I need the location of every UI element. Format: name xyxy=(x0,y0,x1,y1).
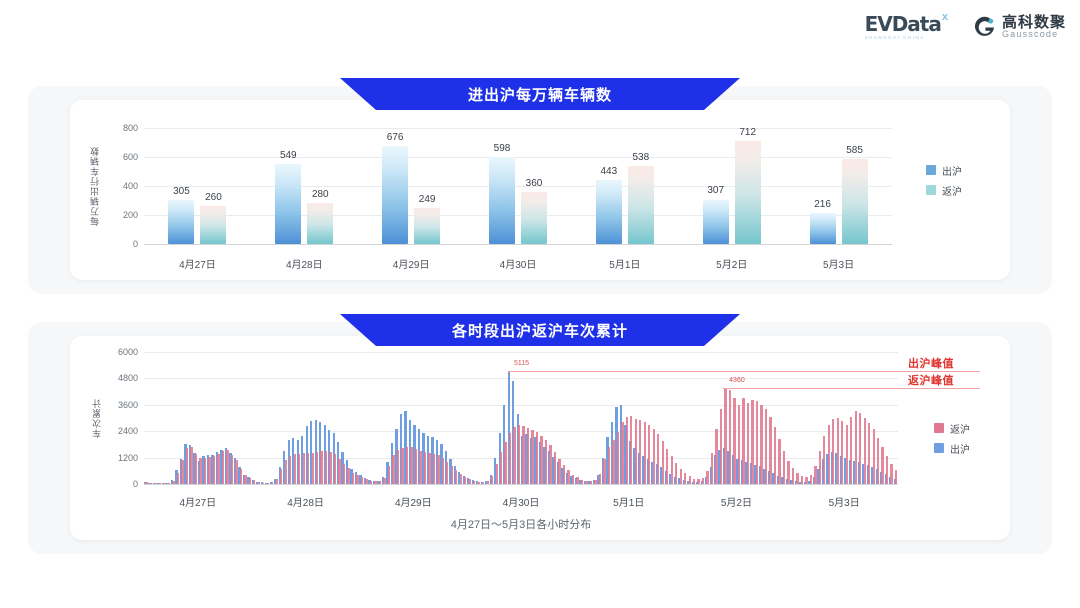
hourly-bar-return xyxy=(338,459,340,484)
hourly-bar-return xyxy=(509,433,511,484)
hourly-bar-return xyxy=(482,482,484,484)
legend-label: 返沪 xyxy=(942,183,962,198)
hourly-bar-return xyxy=(262,483,264,484)
hourly-bar-return xyxy=(581,480,583,484)
hourly-bar-return xyxy=(204,458,206,484)
hourly-bar-return xyxy=(504,442,506,484)
x-axis-tick-label: 4月28日 xyxy=(286,256,323,271)
peak-label-return: 返沪峰值 xyxy=(908,372,954,388)
bar-return-hu xyxy=(307,203,333,244)
hourly-bar-return xyxy=(276,479,278,484)
hourly-bar-return xyxy=(720,409,722,484)
hourly-bar-return xyxy=(446,462,448,484)
bar-value-label: 549 xyxy=(280,150,297,161)
bar-value-label: 538 xyxy=(633,152,650,163)
hourly-bar-return xyxy=(531,430,533,484)
hourly-bar-return xyxy=(778,439,780,484)
hourly-bar-return xyxy=(680,469,682,484)
x-axis-tick-label: 4月28日 xyxy=(287,494,324,509)
hourly-bar-return xyxy=(769,417,771,484)
hourly-bar-return xyxy=(253,480,255,484)
y-gridline xyxy=(144,352,898,353)
hourly-bar-return xyxy=(675,463,677,484)
hourly-bar-return xyxy=(765,409,767,484)
hourly-bar-return xyxy=(805,477,807,484)
hourly-bar-return xyxy=(352,473,354,484)
bar-value-label: 676 xyxy=(387,132,404,143)
hourly-bar-return xyxy=(536,432,538,484)
hourly-bar-return xyxy=(617,432,619,484)
y-gridline xyxy=(144,128,892,129)
hourly-bar-return xyxy=(549,445,551,484)
hourly-bar-return xyxy=(540,436,542,484)
hourly-bar-return xyxy=(594,480,596,484)
hourly-bar-return xyxy=(231,455,233,484)
hourly-bar-return xyxy=(671,456,673,484)
hourly-bar-return xyxy=(684,473,686,484)
hourly-bar-return xyxy=(469,479,471,484)
hourly-bar-return xyxy=(249,478,251,484)
y-axis-tick-label: 1200 xyxy=(104,453,138,463)
y-axis-tick-label: 600 xyxy=(110,152,138,162)
legend-swatch xyxy=(926,185,936,195)
hourly-bar-return xyxy=(756,401,758,484)
bar-return-hu xyxy=(414,208,440,244)
bar-out-hu xyxy=(168,200,194,244)
x-axis-tick-label: 4月29日 xyxy=(393,256,430,271)
hourly-bar-return xyxy=(890,464,892,484)
gausscode-name-cn: 高科数聚 xyxy=(1002,15,1066,31)
hourly-bar-return xyxy=(563,465,565,484)
gausscode-mark-icon xyxy=(973,16,996,39)
hourly-bar-return xyxy=(626,417,628,484)
y-axis-tick-label: 2400 xyxy=(104,426,138,436)
hourly-bar-return xyxy=(648,425,650,484)
hourly-bar-return xyxy=(545,440,547,484)
hourly-bar-return xyxy=(666,449,668,484)
bar-return-hu xyxy=(521,192,547,244)
y-axis-title: 车次累计 xyxy=(90,348,103,488)
hourly-bar-return xyxy=(747,403,749,484)
hourly-bar-return xyxy=(487,481,489,484)
hourly-bar-return xyxy=(442,458,444,484)
hourly-bar-return xyxy=(603,459,605,484)
bar-return-hu xyxy=(200,206,226,244)
hourly-bar-return xyxy=(657,434,659,484)
hourly-bar-return xyxy=(428,453,430,484)
hourly-bar-return xyxy=(195,454,197,484)
hourly-bar-return xyxy=(877,438,879,484)
x-axis-tick-label: 5月2日 xyxy=(721,494,752,509)
hourly-bar-return xyxy=(576,477,578,484)
bar-value-label: 249 xyxy=(419,194,436,205)
evdata-logo-superscript-icon: x xyxy=(942,12,948,23)
bar-return-hu xyxy=(842,159,868,244)
y-axis-tick-label: 6000 xyxy=(104,347,138,357)
hourly-bar-return xyxy=(316,452,318,484)
hourly-bar-return xyxy=(294,454,296,484)
hourly-bar-return xyxy=(496,464,498,484)
hourly-bar-return xyxy=(280,469,282,484)
hourly-bar-return xyxy=(729,390,731,484)
bar-value-label: 585 xyxy=(846,145,863,156)
bar-value-label: 598 xyxy=(494,143,511,154)
evdata-logo-text: EVData xyxy=(865,14,941,34)
bar-value-label: 443 xyxy=(601,166,618,177)
y-gridline xyxy=(144,378,898,379)
hourly-bar-return xyxy=(478,482,480,484)
bar-return-hu xyxy=(735,141,761,244)
hourly-bar-return xyxy=(163,483,165,484)
hourly-bar-return xyxy=(222,451,224,484)
hourly-bar-return xyxy=(464,477,466,484)
x-axis-tick-label: 4月30日 xyxy=(500,256,537,271)
hourly-bar-return xyxy=(868,423,870,484)
x-axis-tick-label: 5月3日 xyxy=(829,494,860,509)
legend-item[interactable]: 返沪 xyxy=(934,421,970,436)
hourly-bar-return xyxy=(572,475,574,484)
hourly-bar-return xyxy=(410,447,412,484)
bottom-chart-panel: 车次累计0120024003600480060004月27日4月28日4月29日… xyxy=(70,336,1010,540)
hourly-bar-return xyxy=(312,453,314,484)
legend-label: 出沪 xyxy=(950,441,970,456)
bar-out-hu xyxy=(596,180,622,244)
bar-return-hu xyxy=(628,166,654,244)
hourly-bar-return xyxy=(374,481,376,484)
hourly-bar-return xyxy=(473,481,475,484)
hourly-bar-return xyxy=(783,451,785,484)
hourly-bar-return xyxy=(419,451,421,484)
y-gridline xyxy=(144,244,892,245)
hourly-bar-return xyxy=(325,451,327,484)
y-gridline xyxy=(144,157,892,158)
hourly-bar-return xyxy=(154,483,156,484)
legend-label: 返沪 xyxy=(950,421,970,436)
hourly-bar-return xyxy=(855,411,857,484)
hourly-bar-return xyxy=(168,483,170,484)
hourly-bar-return xyxy=(612,440,614,484)
hourly-bar-return xyxy=(846,425,848,484)
evdata-logo-tagline: SHANGHAI CHINA xyxy=(865,36,925,40)
hourly-bar-return xyxy=(491,476,493,484)
hourly-bar-return xyxy=(244,475,246,484)
bar-value-label: 712 xyxy=(739,127,756,138)
legend-swatch xyxy=(934,423,944,433)
hourly-bar-return xyxy=(733,398,735,484)
hourly-bar-return xyxy=(599,474,601,484)
hourly-bar-return xyxy=(406,447,408,484)
bar-out-hu xyxy=(810,213,836,244)
hourly-bar-return xyxy=(329,452,331,484)
legend-item[interactable]: 返沪 xyxy=(926,183,962,198)
hourly-bar-return xyxy=(850,417,852,484)
hourly-bar-return xyxy=(639,420,641,484)
hourly-bar-return xyxy=(415,449,417,484)
top-chart-panel: 每万辆出行车辆数02004006008003052604月27日5492804月… xyxy=(70,100,1010,280)
legend-swatch xyxy=(934,443,944,453)
hourly-bar-return xyxy=(433,454,435,484)
hourly-bar-return xyxy=(145,482,147,484)
hourly-bar-return xyxy=(343,464,345,484)
x-axis-tick-label: 5月1日 xyxy=(613,494,644,509)
hourly-bar-return xyxy=(527,428,529,484)
hourly-bar-return xyxy=(567,470,569,484)
hourly-bar-return xyxy=(258,482,260,484)
hourly-bar-return xyxy=(513,427,515,484)
bar-value-label: 360 xyxy=(526,178,543,189)
y-gridline xyxy=(144,186,892,187)
bar-value-label: 307 xyxy=(707,185,724,196)
hourly-bar-return xyxy=(370,481,372,484)
hourly-bar-return xyxy=(226,450,228,484)
hourly-bar-return xyxy=(356,475,358,484)
bottom-chart-card: 车次累计0120024003600480060004月27日4月28日4月29日… xyxy=(28,322,1052,554)
hourly-bar-return xyxy=(307,453,309,484)
hourly-bar-return xyxy=(742,398,744,484)
hourly-bar-return xyxy=(361,477,363,484)
legend-swatch xyxy=(926,165,936,175)
hourly-bar-return xyxy=(289,456,291,484)
hourly-bar-return xyxy=(401,448,403,484)
logo-divider xyxy=(960,14,961,40)
bar-out-hu xyxy=(275,164,301,244)
gausscode-logo: 高科数聚 Gausscode xyxy=(973,15,1066,40)
hourly-bar-return xyxy=(644,422,646,484)
y-gridline xyxy=(144,431,898,432)
top-chart-card: 每万辆出行车辆数02004006008003052604月27日5492804月… xyxy=(28,86,1052,294)
hourly-bar-return xyxy=(774,427,776,484)
hourly-bar-return xyxy=(181,460,183,484)
page-header: EVData x SHANGHAI CHINA 高科数聚 Gausscode xyxy=(0,0,1080,62)
hourly-bar-return xyxy=(841,421,843,484)
hourly-bar-return xyxy=(864,418,866,484)
top-chart-title: 进出沪每万辆车辆数 xyxy=(468,84,612,105)
bottom-chart-title-banner: 各时段出沪返沪车次累计 xyxy=(340,314,740,346)
hourly-bar-return xyxy=(895,470,897,484)
hourly-bar-return xyxy=(590,481,592,484)
hourly-bar-return xyxy=(823,436,825,484)
hourly-bar-return xyxy=(267,483,269,484)
hourly-bar-return xyxy=(388,466,390,484)
hourly-bar-return xyxy=(320,451,322,484)
hourly-bar-return xyxy=(558,459,560,484)
hourly-bar-return xyxy=(347,468,349,484)
hourly-bar-return xyxy=(881,447,883,484)
peak-value-return: 4360 xyxy=(729,377,745,384)
hourly-bar-return xyxy=(608,447,610,484)
hourly-bar-return xyxy=(814,466,816,484)
logo-group: EVData x SHANGHAI CHINA 高科数聚 Gausscode xyxy=(865,14,1066,40)
top-chart-title-banner: 进出沪每万辆车辆数 xyxy=(340,78,740,110)
bar-value-label: 260 xyxy=(205,192,222,203)
hourly-bar-return xyxy=(819,451,821,484)
hourly-bar-return xyxy=(298,454,300,484)
bottom-chart-legend: 返沪出沪 xyxy=(934,421,970,456)
hourly-bar-return xyxy=(554,452,556,484)
hourly-bar-return xyxy=(635,419,637,484)
hourly-bar-return xyxy=(392,455,394,484)
hourly-bar-return xyxy=(437,455,439,484)
hourly-bar-return xyxy=(859,413,861,484)
hourly-bar-return xyxy=(217,454,219,484)
bar-out-hu xyxy=(703,200,729,245)
hourly-bar-return xyxy=(208,457,210,484)
hourly-bar-return xyxy=(460,474,462,484)
y-axis-tick-label: 200 xyxy=(110,210,138,220)
hourly-bar-return xyxy=(199,458,201,484)
daily-vehicles-chart: 每万辆出行车辆数02004006008003052604月27日5492804月… xyxy=(70,100,1010,280)
hourly-bar-return xyxy=(630,416,632,484)
hourly-bar-return xyxy=(522,426,524,484)
hourly-bar-return xyxy=(177,473,179,484)
y-axis-tick-label: 4800 xyxy=(104,373,138,383)
hourly-bar-return xyxy=(886,456,888,484)
hourly-bar-return xyxy=(697,479,699,484)
bottom-chart-title: 各时段出沪返沪车次累计 xyxy=(452,320,628,341)
hourly-bar-return xyxy=(455,470,457,484)
y-axis-tick-label: 0 xyxy=(110,239,138,249)
hourly-bar-return xyxy=(738,405,740,484)
peak-value-hu: 5115 xyxy=(514,360,529,367)
hourly-bar-return xyxy=(186,448,188,484)
hourly-bar-return xyxy=(810,475,812,484)
x-axis-caption: 4月27日～5月3日各小时分布 xyxy=(451,516,592,532)
y-gridline xyxy=(144,484,898,485)
top-chart-legend: 出沪返沪 xyxy=(926,163,962,198)
hourly-bar-return xyxy=(213,456,215,484)
hourly-bar-return xyxy=(792,468,794,484)
bar-out-hu xyxy=(489,157,515,244)
x-axis-tick-label: 5月2日 xyxy=(716,256,747,271)
gausscode-logo-text: 高科数聚 Gausscode xyxy=(1002,15,1066,40)
x-axis-tick-label: 5月3日 xyxy=(823,256,854,271)
x-axis-tick-label: 5月1日 xyxy=(609,256,640,271)
hourly-bar-return xyxy=(751,400,753,484)
y-gridline xyxy=(144,215,892,216)
x-axis-tick-label: 4月30日 xyxy=(503,494,540,509)
hourly-bar-return xyxy=(711,453,713,484)
bar-value-label: 305 xyxy=(173,186,190,197)
hourly-bar-return xyxy=(334,454,336,484)
y-axis-tick-label: 400 xyxy=(110,181,138,191)
hourly-bar-return xyxy=(837,418,839,484)
hourly-bar-return xyxy=(715,429,717,484)
hourly-bar-return xyxy=(702,478,704,484)
hourly-bar-return xyxy=(365,479,367,484)
hourly-bar-return xyxy=(706,471,708,484)
hourly-bar-return xyxy=(303,453,305,484)
hourly-bar-return xyxy=(383,478,385,484)
hourly-bar-return xyxy=(760,405,762,484)
evdata-logo-wordmark-row: EVData x xyxy=(865,14,948,34)
gausscode-name-en: Gausscode xyxy=(1002,30,1066,39)
hourly-bar-return xyxy=(172,481,174,484)
hourly-bar-return xyxy=(724,388,726,484)
y-axis-tick-label: 0 xyxy=(104,479,138,489)
hourly-bar-return xyxy=(159,483,161,484)
y-axis-tick-label: 3600 xyxy=(104,400,138,410)
hourly-bar-return xyxy=(828,425,830,484)
legend-item[interactable]: 出沪 xyxy=(934,441,970,456)
hourly-bar-return xyxy=(424,452,426,484)
legend-label: 出沪 xyxy=(942,163,962,178)
hourly-bar-return xyxy=(518,425,520,484)
hourly-bar-return xyxy=(235,460,237,484)
peak-line-return xyxy=(723,388,980,389)
hourly-bar-return xyxy=(150,483,152,484)
hourly-bar-return xyxy=(500,452,502,484)
peak-label-hu: 出沪峰值 xyxy=(908,355,954,371)
hourly-bar-return xyxy=(693,479,695,485)
hourly-bar-return xyxy=(451,466,453,484)
hourly-bar-return xyxy=(662,441,664,484)
x-axis-tick-label: 4月29日 xyxy=(395,494,432,509)
hourly-bar-return xyxy=(621,422,623,484)
hourly-bar-return xyxy=(285,460,287,484)
hourly-bar-return xyxy=(190,447,192,484)
y-gridline xyxy=(144,405,898,406)
bar-value-label: 280 xyxy=(312,189,329,200)
hourly-bar-return xyxy=(271,482,273,484)
bar-value-label: 216 xyxy=(814,199,831,210)
hourly-bar-return xyxy=(397,450,399,484)
x-axis-tick-label: 4月27日 xyxy=(180,494,217,509)
hourly-bar-return xyxy=(689,476,691,484)
y-axis-tick-label: 800 xyxy=(110,123,138,133)
hourly-bar-return xyxy=(832,419,834,484)
bar-out-hu xyxy=(382,146,408,244)
hourly-bar-return xyxy=(653,429,655,484)
hourly-bar-return xyxy=(801,476,803,484)
hourly-bar-return xyxy=(379,481,381,484)
x-axis-tick-label: 4月27日 xyxy=(179,256,216,271)
y-axis-title: 每万辆出行车辆数 xyxy=(88,124,101,248)
hourly-bar-return xyxy=(585,481,587,484)
hourly-bar-return xyxy=(873,429,875,484)
legend-item[interactable]: 出沪 xyxy=(926,163,962,178)
hourly-trips-chart: 车次累计0120024003600480060004月27日4月28日4月29日… xyxy=(70,336,1010,540)
hourly-bar-return xyxy=(787,461,789,484)
hourly-bar-return xyxy=(796,473,798,484)
hourly-bar-return xyxy=(240,469,242,484)
evdata-logo: EVData x SHANGHAI CHINA xyxy=(865,14,948,40)
